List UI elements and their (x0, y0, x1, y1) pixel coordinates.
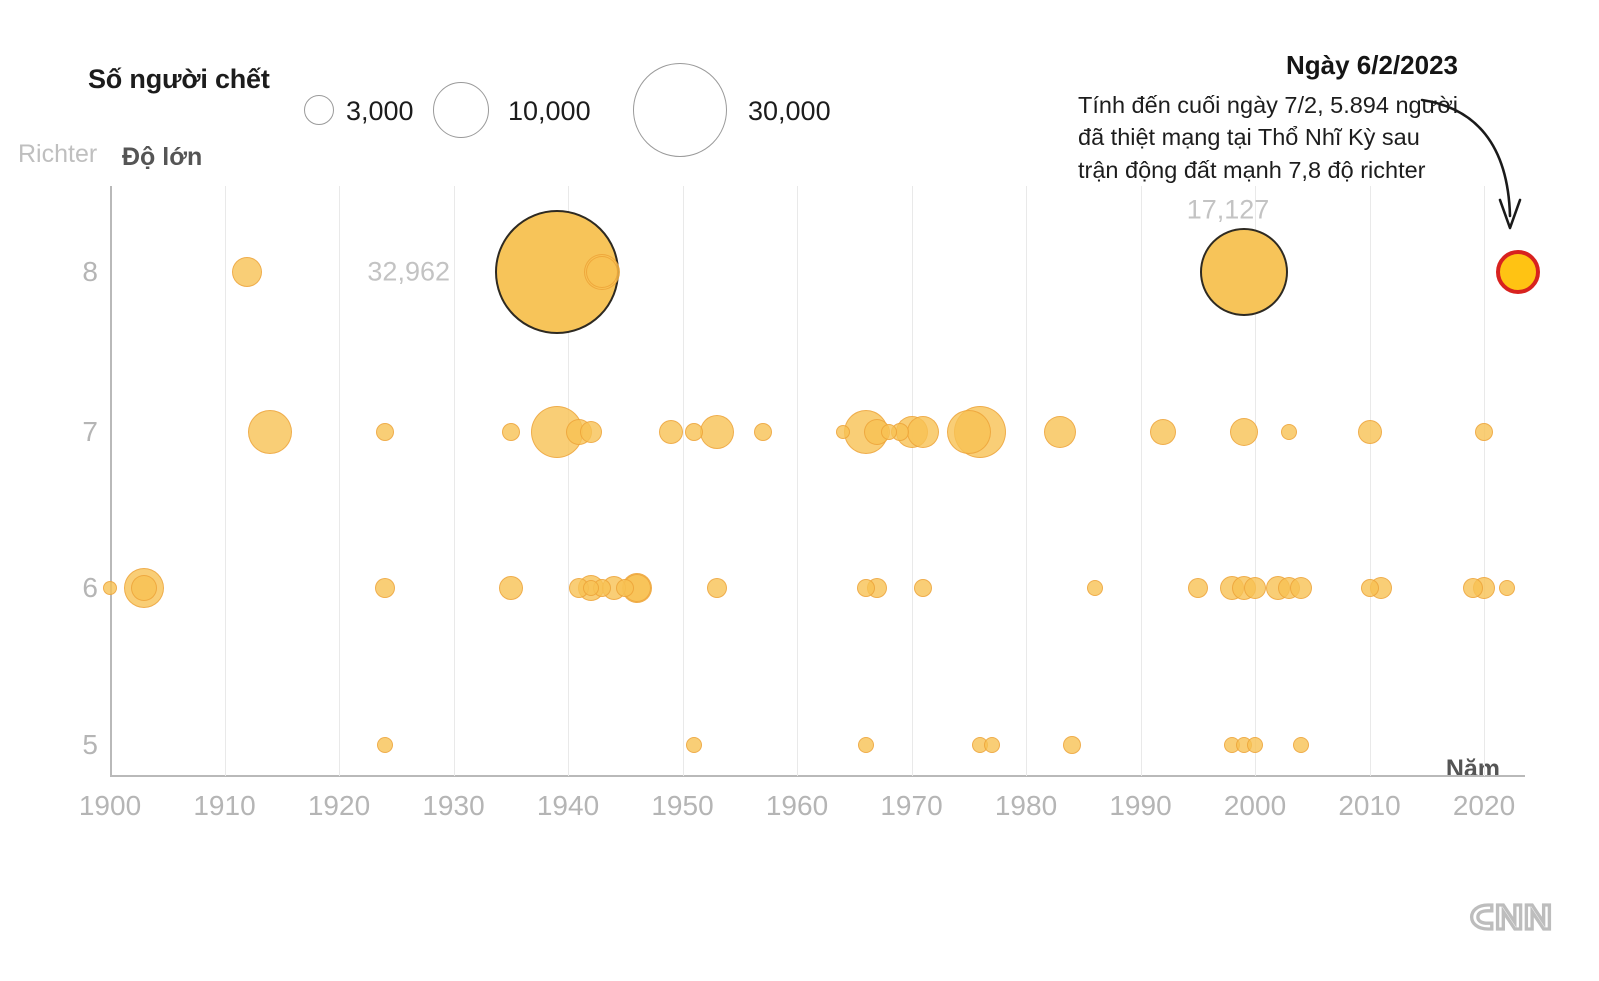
bubble-point[interactable] (857, 579, 875, 597)
annotation-arrow-icon (1420, 96, 1540, 256)
gridline-1920 (339, 186, 340, 776)
bubble-point[interactable] (502, 423, 520, 441)
bubble-point[interactable] (1044, 416, 1076, 448)
bubble-point[interactable] (1496, 250, 1540, 294)
bubble-point[interactable] (1188, 578, 1208, 598)
annotation-body: Tính đến cuối ngày 7/2, 5.894 người đã t… (1078, 89, 1458, 186)
gridline-1930 (454, 186, 455, 776)
bubble-point[interactable] (686, 737, 702, 753)
cnn-logo (1463, 895, 1559, 939)
bubble-point[interactable] (1463, 578, 1483, 598)
bubble-point[interactable] (131, 575, 157, 601)
y-tick-5: 5 (70, 729, 98, 761)
bubble-point[interactable] (685, 423, 703, 441)
bubble-point[interactable] (583, 580, 599, 596)
bubble-point[interactable] (1358, 420, 1382, 444)
y-tick-8: 8 (70, 256, 98, 288)
x-tick-1990: 1990 (1109, 790, 1171, 822)
bubble-point[interactable] (1247, 737, 1263, 753)
bubble-point[interactable] (580, 421, 602, 443)
gridline-1990 (1141, 186, 1142, 776)
gridline-1980 (1026, 186, 1027, 776)
x-tick-1960: 1960 (766, 790, 828, 822)
annotation-callout: Ngày 6/2/2023 Tính đến cuối ngày 7/2, 5.… (1078, 50, 1458, 186)
x-tick-1980: 1980 (995, 790, 1057, 822)
value-label: 32,962 (367, 257, 450, 288)
x-tick-2020: 2020 (1453, 790, 1515, 822)
bubble-point[interactable] (1087, 580, 1103, 596)
y-tick-6: 6 (70, 572, 98, 604)
bubble-point[interactable] (659, 420, 683, 444)
bubble-point[interactable] (754, 423, 772, 441)
x-tick-2000: 2000 (1224, 790, 1286, 822)
richter-axis-note: Richter (18, 140, 97, 169)
gridline-1910 (225, 186, 226, 776)
bubble-point[interactable] (881, 424, 897, 440)
bubble-point[interactable] (1290, 577, 1312, 599)
gridline-2020 (1484, 186, 1485, 776)
y-tick-7: 7 (70, 416, 98, 448)
bubble-point[interactable] (377, 737, 393, 753)
bubble-point[interactable] (947, 410, 991, 454)
bubble-point[interactable] (1200, 228, 1288, 316)
bubble-point[interactable] (1293, 737, 1309, 753)
bubble-point[interactable] (499, 576, 523, 600)
y-axis-title: Độ lớn (122, 143, 202, 172)
bubble-point[interactable] (1150, 419, 1176, 445)
bubble-point[interactable] (616, 579, 634, 597)
bubble-point[interactable] (984, 737, 1000, 753)
bubble-point[interactable] (376, 423, 394, 441)
gridline-2010 (1370, 186, 1371, 776)
gridline-1960 (797, 186, 798, 776)
bubble-point[interactable] (1499, 580, 1515, 596)
bubble-point[interactable] (103, 581, 117, 595)
bubble-point[interactable] (836, 425, 850, 439)
x-axis-line (110, 775, 1525, 777)
bubble-point[interactable] (586, 256, 618, 288)
gridline-1970 (912, 186, 913, 776)
bubble-point[interactable] (1244, 577, 1266, 599)
chart-root: Số người chết 3,00010,00030,000 Richter … (0, 0, 1599, 981)
bubble-point[interactable] (907, 416, 939, 448)
bubble-point[interactable] (248, 410, 292, 454)
y-axis-line (110, 186, 112, 776)
bubble-point[interactable] (1230, 418, 1258, 446)
bubble-point[interactable] (375, 578, 395, 598)
bubble-point[interactable] (1361, 579, 1379, 597)
bubble-point[interactable] (707, 578, 727, 598)
x-tick-1900: 1900 (79, 790, 141, 822)
bubble-point[interactable] (1281, 424, 1297, 440)
bubble-point[interactable] (858, 737, 874, 753)
x-tick-1920: 1920 (308, 790, 370, 822)
x-tick-1930: 1930 (422, 790, 484, 822)
x-tick-2010: 2010 (1338, 790, 1400, 822)
value-label: 17,127 (1187, 195, 1270, 226)
annotation-title: Ngày 6/2/2023 (1078, 50, 1458, 81)
x-tick-1910: 1910 (193, 790, 255, 822)
bubble-point[interactable] (232, 257, 262, 287)
x-tick-1950: 1950 (651, 790, 713, 822)
bubble-point[interactable] (914, 579, 932, 597)
gridline-1950 (683, 186, 684, 776)
x-axis-title: Năm (1446, 755, 1500, 784)
x-tick-1970: 1970 (880, 790, 942, 822)
bubble-point[interactable] (700, 415, 734, 449)
x-tick-1940: 1940 (537, 790, 599, 822)
bubble-point[interactable] (1475, 423, 1493, 441)
bubble-point[interactable] (1063, 736, 1081, 754)
